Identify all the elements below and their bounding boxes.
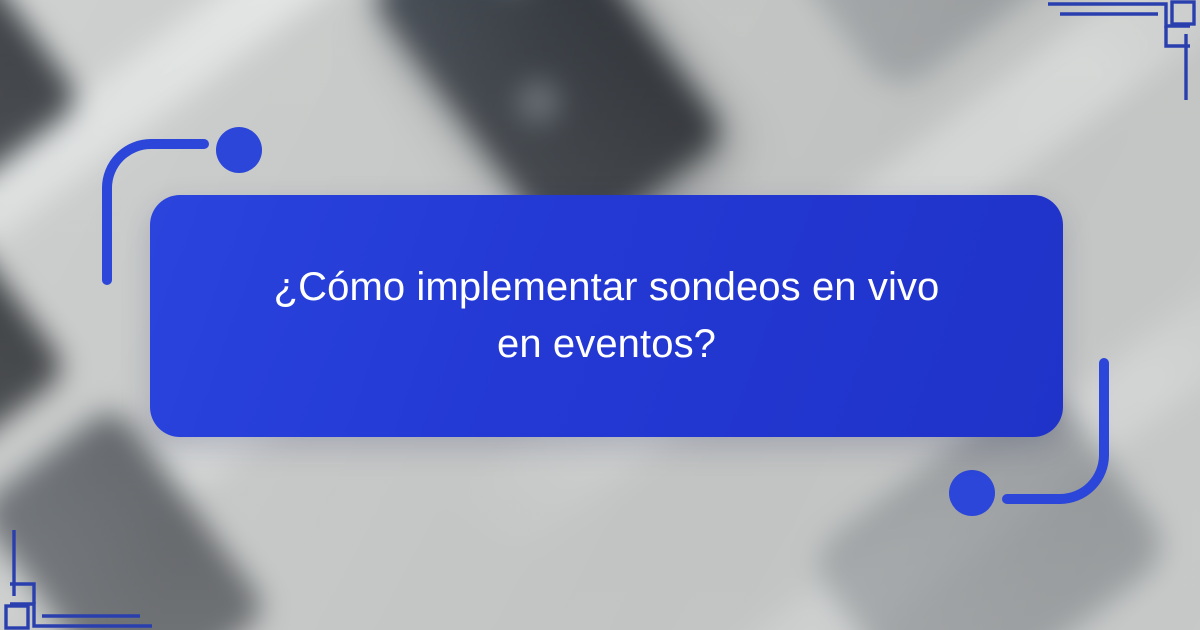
headline-card: ¿Cómo implementar sondeos en vivo en eve…: [150, 195, 1063, 437]
article-card-canvas: ¿Cómo implementar sondeos en vivo en eve…: [0, 0, 1200, 630]
page-title: ¿Cómo implementar sondeos en vivo en eve…: [257, 259, 957, 373]
